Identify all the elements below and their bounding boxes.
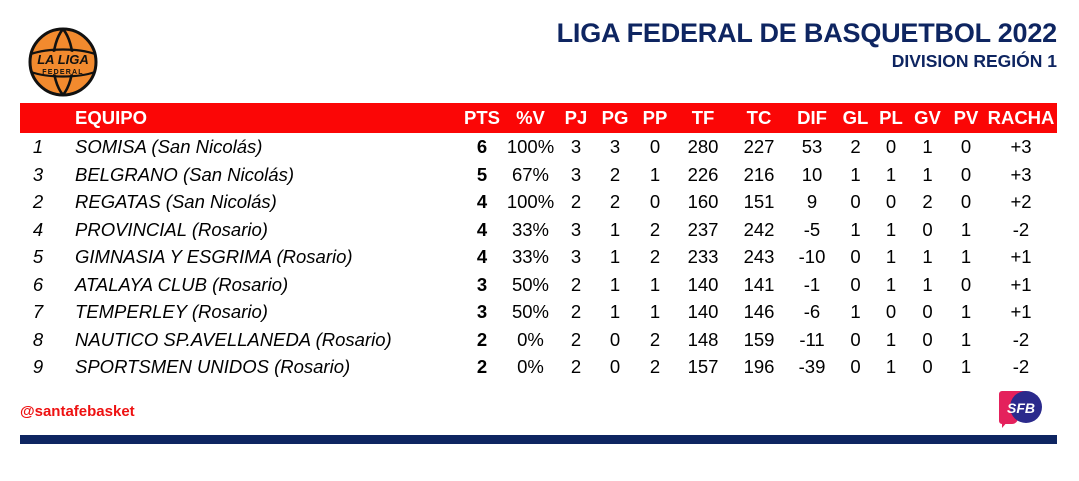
cell-pl: 0	[874, 188, 908, 216]
column-header-pl[interactable]: PL	[874, 103, 908, 133]
cell-pj: 2	[557, 298, 595, 326]
cell-pvv: 1	[947, 243, 985, 271]
cell-pj: 2	[557, 188, 595, 216]
cell-pv: 100%	[504, 133, 557, 161]
cell-pts: 6	[460, 133, 504, 161]
cell-team: PROVINCIAL (Rosario)	[56, 216, 460, 244]
cell-tf: 140	[675, 298, 731, 326]
cell-pl: 1	[874, 161, 908, 189]
cell-pts: 2	[460, 353, 504, 381]
cell-pp: 1	[635, 298, 675, 326]
cell-pp: 1	[635, 271, 675, 299]
cell-team: BELGRANO (San Nicolás)	[56, 161, 460, 189]
cell-racha: +3	[985, 133, 1057, 161]
cell-pl: 1	[874, 243, 908, 271]
column-header-pg[interactable]: PG	[595, 103, 635, 133]
league-logo: LA LIGA FEDERAL	[28, 27, 98, 97]
cell-pj: 2	[557, 326, 595, 354]
cell-tc: 242	[731, 216, 787, 244]
cell-team: REGATAS (San Nicolás)	[56, 188, 460, 216]
cell-tf: 280	[675, 133, 731, 161]
table-row[interactable]: 3BELGRANO (San Nicolás)567%3212262161011…	[20, 161, 1057, 189]
santa-fe-basket-logo: SFB	[996, 388, 1046, 430]
cell-rank: 4	[20, 216, 56, 244]
cell-pg: 3	[595, 133, 635, 161]
cell-pp: 1	[635, 161, 675, 189]
cell-tc: 243	[731, 243, 787, 271]
cell-tf: 233	[675, 243, 731, 271]
cell-tc: 151	[731, 188, 787, 216]
column-header-team[interactable]: EQUIPO	[56, 103, 460, 133]
cell-dif: -1	[787, 271, 837, 299]
cell-racha: +2	[985, 188, 1057, 216]
social-handle[interactable]: @santafebasket	[20, 403, 135, 420]
table-row[interactable]: 6ATALAYA CLUB (Rosario)350%211140141-101…	[20, 271, 1057, 299]
cell-pj: 3	[557, 161, 595, 189]
footer-divider-bar	[20, 435, 1057, 444]
cell-pts: 3	[460, 271, 504, 299]
table-row[interactable]: 2REGATAS (San Nicolás)4100%2201601519002…	[20, 188, 1057, 216]
cell-pl: 0	[874, 133, 908, 161]
cell-pvv: 0	[947, 271, 985, 299]
cell-pv: 33%	[504, 216, 557, 244]
cell-racha: +3	[985, 161, 1057, 189]
cell-gv: 2	[908, 188, 947, 216]
cell-pl: 1	[874, 353, 908, 381]
cell-team: NAUTICO SP.AVELLANEDA (Rosario)	[56, 326, 460, 354]
cell-tf: 140	[675, 271, 731, 299]
cell-dif: 10	[787, 161, 837, 189]
cell-racha: -2	[985, 326, 1057, 354]
column-header-rank[interactable]	[20, 103, 56, 133]
cell-rank: 6	[20, 271, 56, 299]
column-header-pv[interactable]: %V	[504, 103, 557, 133]
cell-pts: 2	[460, 326, 504, 354]
column-header-pts[interactable]: PTS	[460, 103, 504, 133]
cell-pv: 50%	[504, 271, 557, 299]
cell-pp: 2	[635, 243, 675, 271]
cell-team: ATALAYA CLUB (Rosario)	[56, 271, 460, 299]
cell-team: TEMPERLEY (Rosario)	[56, 298, 460, 326]
cell-pl: 1	[874, 326, 908, 354]
logo-text-primary: LA LIGA	[37, 52, 89, 67]
cell-pv: 100%	[504, 188, 557, 216]
cell-pj: 2	[557, 353, 595, 381]
cell-pp: 2	[635, 353, 675, 381]
cell-tf: 160	[675, 188, 731, 216]
cell-gv: 1	[908, 133, 947, 161]
table-row[interactable]: 8NAUTICO SP.AVELLANEDA (Rosario)20%20214…	[20, 326, 1057, 354]
cell-pl: 0	[874, 298, 908, 326]
cell-dif: -6	[787, 298, 837, 326]
cell-rank: 7	[20, 298, 56, 326]
cell-rank: 8	[20, 326, 56, 354]
cell-dif: -39	[787, 353, 837, 381]
cell-pv: 0%	[504, 326, 557, 354]
cell-gl: 2	[837, 133, 874, 161]
column-header-tc[interactable]: TC	[731, 103, 787, 133]
cell-gv: 0	[908, 353, 947, 381]
cell-pj: 3	[557, 243, 595, 271]
cell-rank: 1	[20, 133, 56, 161]
cell-team: GIMNASIA Y ESGRIMA (Rosario)	[56, 243, 460, 271]
cell-pl: 1	[874, 216, 908, 244]
cell-pvv: 1	[947, 216, 985, 244]
cell-pvv: 0	[947, 161, 985, 189]
cell-tc: 196	[731, 353, 787, 381]
column-header-pv2[interactable]: PV	[947, 103, 985, 133]
cell-racha: -2	[985, 216, 1057, 244]
cell-pv: 67%	[504, 161, 557, 189]
cell-dif: -5	[787, 216, 837, 244]
table-header: EQUIPO PTS %V PJ PG PP TF TC DIF GL PL G…	[20, 103, 1057, 133]
cell-pvv: 1	[947, 326, 985, 354]
cell-rank: 2	[20, 188, 56, 216]
cell-pl: 1	[874, 271, 908, 299]
cell-gl: 1	[837, 216, 874, 244]
cell-tc: 159	[731, 326, 787, 354]
cell-pts: 4	[460, 243, 504, 271]
cell-pg: 1	[595, 271, 635, 299]
cell-racha: +1	[985, 271, 1057, 299]
cell-tf: 148	[675, 326, 731, 354]
cell-racha: -2	[985, 353, 1057, 381]
column-header-tf[interactable]: TF	[675, 103, 731, 133]
sfb-logo-icon: SFB	[996, 388, 1046, 430]
cell-pg: 1	[595, 243, 635, 271]
column-header-racha[interactable]: RACHA	[985, 103, 1057, 133]
column-header-dif[interactable]: DIF	[787, 103, 837, 133]
cell-gl: 1	[837, 298, 874, 326]
title-block: LIGA FEDERAL DE BASQUETBOL 2022 DIVISION…	[557, 18, 1057, 72]
column-header-pj[interactable]: PJ	[557, 103, 595, 133]
cell-gv: 0	[908, 216, 947, 244]
column-header-gl[interactable]: GL	[837, 103, 874, 133]
cell-pg: 1	[595, 298, 635, 326]
cell-pp: 2	[635, 216, 675, 244]
table-row[interactable]: 7TEMPERLEY (Rosario)350%211140146-61001+…	[20, 298, 1057, 326]
cell-tc: 227	[731, 133, 787, 161]
cell-pv: 0%	[504, 353, 557, 381]
table-row[interactable]: 9SPORTSMEN UNIDOS (Rosario)20%202157196-…	[20, 353, 1057, 381]
column-header-pp[interactable]: PP	[635, 103, 675, 133]
cell-pg: 2	[595, 188, 635, 216]
cell-tf: 157	[675, 353, 731, 381]
cell-dif: 9	[787, 188, 837, 216]
page-subtitle: DIVISION REGIÓN 1	[557, 51, 1057, 72]
standings-table: EQUIPO PTS %V PJ PG PP TF TC DIF GL PL G…	[20, 103, 1057, 381]
cell-pp: 0	[635, 133, 675, 161]
cell-gl: 0	[837, 326, 874, 354]
cell-rank: 9	[20, 353, 56, 381]
cell-pp: 2	[635, 326, 675, 354]
cell-pts: 4	[460, 188, 504, 216]
cell-pg: 2	[595, 161, 635, 189]
cell-pg: 1	[595, 216, 635, 244]
cell-gv: 1	[908, 243, 947, 271]
cell-racha: +1	[985, 243, 1057, 271]
cell-gv: 1	[908, 271, 947, 299]
page-title: LIGA FEDERAL DE BASQUETBOL 2022	[557, 18, 1057, 48]
cell-gl: 0	[837, 188, 874, 216]
cell-pvv: 0	[947, 188, 985, 216]
cell-pts: 3	[460, 298, 504, 326]
cell-pp: 0	[635, 188, 675, 216]
cell-gv: 1	[908, 161, 947, 189]
cell-gl: 0	[837, 353, 874, 381]
cell-tc: 146	[731, 298, 787, 326]
cell-pj: 3	[557, 133, 595, 161]
table-row[interactable]: 1SOMISA (San Nicolás)6100%33028022753201…	[20, 133, 1057, 161]
header-row: EQUIPO PTS %V PJ PG PP TF TC DIF GL PL G…	[20, 103, 1057, 133]
cell-dif: 53	[787, 133, 837, 161]
column-header-gv[interactable]: GV	[908, 103, 947, 133]
cell-tc: 141	[731, 271, 787, 299]
cell-tf: 226	[675, 161, 731, 189]
cell-pts: 4	[460, 216, 504, 244]
table-row[interactable]: 4PROVINCIAL (Rosario)433%312237242-51101…	[20, 216, 1057, 244]
cell-pj: 3	[557, 216, 595, 244]
cell-dif: -10	[787, 243, 837, 271]
basketball-icon: LA LIGA FEDERAL	[28, 27, 98, 97]
sfb-logo-text: SFB	[1007, 400, 1035, 416]
table-row[interactable]: 5GIMNASIA Y ESGRIMA (Rosario)433%3122332…	[20, 243, 1057, 271]
cell-pg: 0	[595, 353, 635, 381]
cell-pts: 5	[460, 161, 504, 189]
cell-pv: 50%	[504, 298, 557, 326]
cell-rank: 3	[20, 161, 56, 189]
cell-rank: 5	[20, 243, 56, 271]
cell-tf: 237	[675, 216, 731, 244]
cell-pg: 0	[595, 326, 635, 354]
cell-gl: 0	[837, 271, 874, 299]
cell-team: SPORTSMEN UNIDOS (Rosario)	[56, 353, 460, 381]
cell-team: SOMISA (San Nicolás)	[56, 133, 460, 161]
cell-gv: 0	[908, 298, 947, 326]
cell-pvv: 1	[947, 298, 985, 326]
cell-pvv: 0	[947, 133, 985, 161]
cell-dif: -11	[787, 326, 837, 354]
cell-pj: 2	[557, 271, 595, 299]
cell-racha: +1	[985, 298, 1057, 326]
cell-pv: 33%	[504, 243, 557, 271]
cell-gl: 0	[837, 243, 874, 271]
table-body: 1SOMISA (San Nicolás)6100%33028022753201…	[20, 133, 1057, 381]
logo-text-secondary: FEDERAL	[42, 69, 83, 76]
cell-gl: 1	[837, 161, 874, 189]
cell-tc: 216	[731, 161, 787, 189]
cell-pvv: 1	[947, 353, 985, 381]
cell-gv: 0	[908, 326, 947, 354]
